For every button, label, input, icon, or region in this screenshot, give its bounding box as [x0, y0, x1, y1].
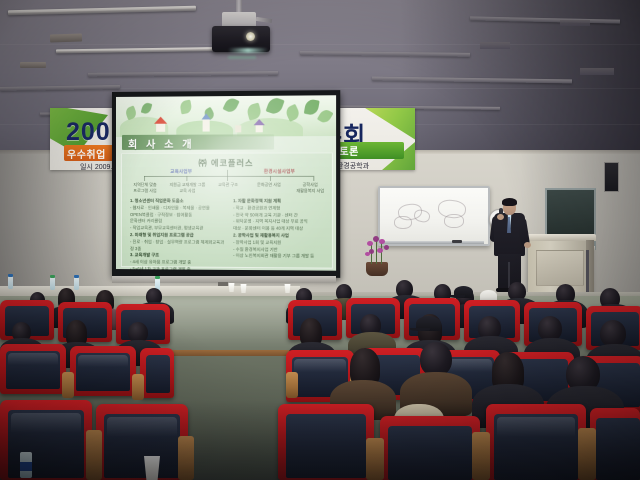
ceiling-shadow-right [400, 0, 640, 170]
slide-title: 회 사 소 개 [128, 136, 195, 151]
ceiling-vent [580, 68, 614, 75]
seat-cushion [286, 414, 366, 478]
water-bottle [74, 277, 79, 290]
bottle-cap [50, 275, 55, 278]
banner-year-text: 200 [66, 118, 111, 147]
wall-mounted-box [604, 162, 619, 192]
org-node: 문화공연 사업 [249, 182, 288, 188]
cap-brim [410, 328, 430, 331]
water-bottle [50, 277, 55, 290]
seat-cushion [388, 426, 472, 480]
ceiling-vent [480, 42, 510, 49]
seat-cushion [596, 418, 640, 480]
slide-header-artwork [116, 95, 336, 137]
orchid-bloom [384, 245, 389, 250]
seat-armrest [132, 374, 144, 400]
seat-armrest [178, 436, 194, 480]
whiteboard-marker [452, 240, 462, 243]
banner-date-text: 일시 2009. [80, 162, 112, 172]
speaker-right-hand [524, 242, 531, 248]
podium-front-panel [536, 250, 584, 286]
seat-armrest [86, 430, 102, 480]
orchid-stem [381, 243, 382, 264]
orchid-bloom [377, 248, 383, 253]
projector-lens-icon [246, 32, 255, 41]
auditorium-photo: 200 수회 우수취업 전학토론 일시 2009. 학교 환경공학과 [0, 0, 640, 480]
podium-stand-leg [586, 250, 589, 296]
org-branch-right-label: 환경시설사업부 [264, 169, 295, 175]
bottle-cap [8, 274, 13, 277]
seat-armrest [62, 372, 74, 398]
seat-highlight [497, 417, 575, 437]
ceiling-seam [0, 44, 640, 45]
slide-item: - 이상 노인복지회관 재활용 기부 그룹 개발 등 [233, 253, 330, 261]
slide-item: - 웹자료 · 인쇄물 · 디자인물 · 복제물 · 공연물 [130, 205, 227, 212]
ceiling-vent [20, 62, 46, 68]
seat-armrest [366, 438, 384, 480]
seat-highlight [294, 359, 346, 372]
podium-top-surface [522, 234, 596, 241]
slide-item: 1. 청소년센터 직업문화 도움소 [130, 198, 227, 205]
seat-armrest [578, 428, 596, 480]
org-node: 지역단체 맞춤 프로그램 사업 [126, 182, 164, 194]
projector-light-glow [228, 48, 268, 53]
seat-highlight [11, 413, 81, 433]
slide-body: ㈜ 에코플러스 교육사업부 환경시설사업부 지역단체 맞춤 프로그램 사업 지원… [121, 152, 333, 268]
slide-item: - 5~6세 1차 교과 프로그램 개발 중 [130, 266, 227, 271]
whiteboard-marker-tray [380, 241, 484, 244]
ceiling-vent [50, 33, 82, 42]
slide-right-column: 1. 자활 문화정책 지원 계획 - 학교 · 환경공원과 연계형 - 전국 약… [233, 198, 330, 260]
seat-highlight [107, 417, 177, 437]
audience-head [600, 320, 626, 347]
orchid-bloom [379, 239, 385, 244]
org-node: 공학사업 재활용복지 사업 [291, 182, 330, 194]
speaker-hair [502, 198, 517, 206]
water-bottle [8, 276, 13, 289]
ceiling-vent [560, 20, 590, 26]
seat-cushion [146, 355, 170, 393]
seat-highlight [78, 355, 128, 367]
whiteboard [378, 186, 490, 246]
wall-shadow [0, 150, 120, 300]
audience-head [420, 342, 452, 376]
bottle-label [20, 462, 32, 471]
seat-armrest [472, 432, 490, 480]
flower-pot [366, 262, 388, 276]
slide-company-name: ㈜ 에코플러스 [122, 157, 332, 169]
seat-armrest [286, 372, 298, 398]
slide-item: - 진로 · 취업 · 창업 · 실무역량 프로그램 체계화교육과정 3종 [130, 239, 227, 253]
orchid-bloom [365, 252, 370, 256]
org-branch-left-label: 교육사업부 [170, 169, 192, 175]
orchid-stem [371, 244, 372, 264]
org-node: 지원금 교재개발 그룹 교육 사업 [167, 182, 207, 194]
speaker-left-hand [497, 214, 504, 220]
slide-surface: 회 사 소 개 ㈜ 에코플러스 교육사업부 환경시설사업부 지역단체 맞춤 프로… [116, 95, 336, 270]
projection-screen: 회 사 소 개 ㈜ 에코플러스 교육사업부 환경시설사업부 지역단체 맞춤 프로… [112, 90, 340, 278]
bottle-cap [74, 275, 79, 278]
bottle-cap [155, 276, 160, 279]
org-node: 교육관 구조 [211, 182, 246, 188]
seat-highlight [8, 353, 58, 365]
projector-underglow [228, 56, 256, 59]
slide-left-column: 1. 청소년센터 직업문화 도움소 - 웹자료 · 인쇄물 · 디자인물 · 복… [130, 198, 227, 271]
orchid-bloom [367, 241, 373, 246]
